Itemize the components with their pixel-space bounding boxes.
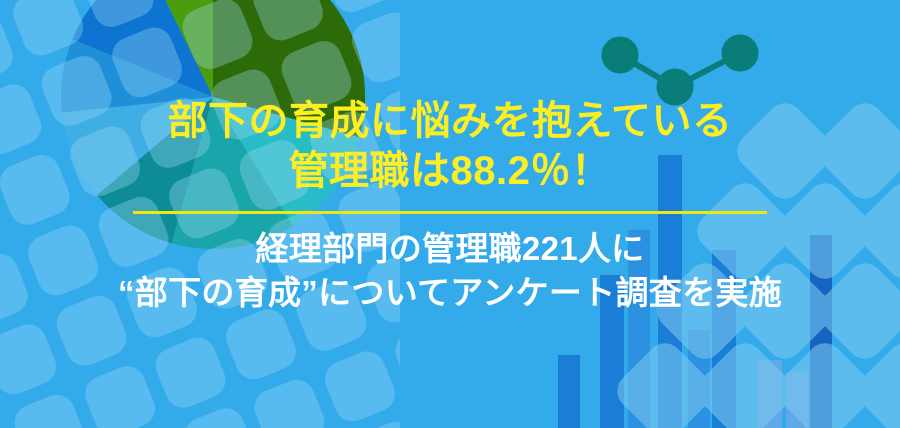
yellow-divider (133, 211, 767, 214)
subtitle-line-1: 経理部門の管理職221人に (0, 227, 900, 271)
promo-banner: 部下の育成に悩みを抱えている 管理職は88.2％！ 経理部門の管理職221人に … (0, 0, 900, 428)
subtitle-line-2: “部下の育成”についてアンケート調査を実施 (0, 271, 900, 315)
text-content-block: 部下の育成に悩みを抱えている 管理職は88.2％！ 経理部門の管理職221人に … (0, 96, 900, 315)
node-circle-1 (602, 37, 638, 73)
bar-1 (558, 355, 580, 428)
title-line-1: 部下の育成に悩みを抱えている (0, 96, 900, 146)
title-line-2: 管理職は88.2％！ (0, 146, 900, 196)
node-circle-3 (722, 35, 758, 71)
